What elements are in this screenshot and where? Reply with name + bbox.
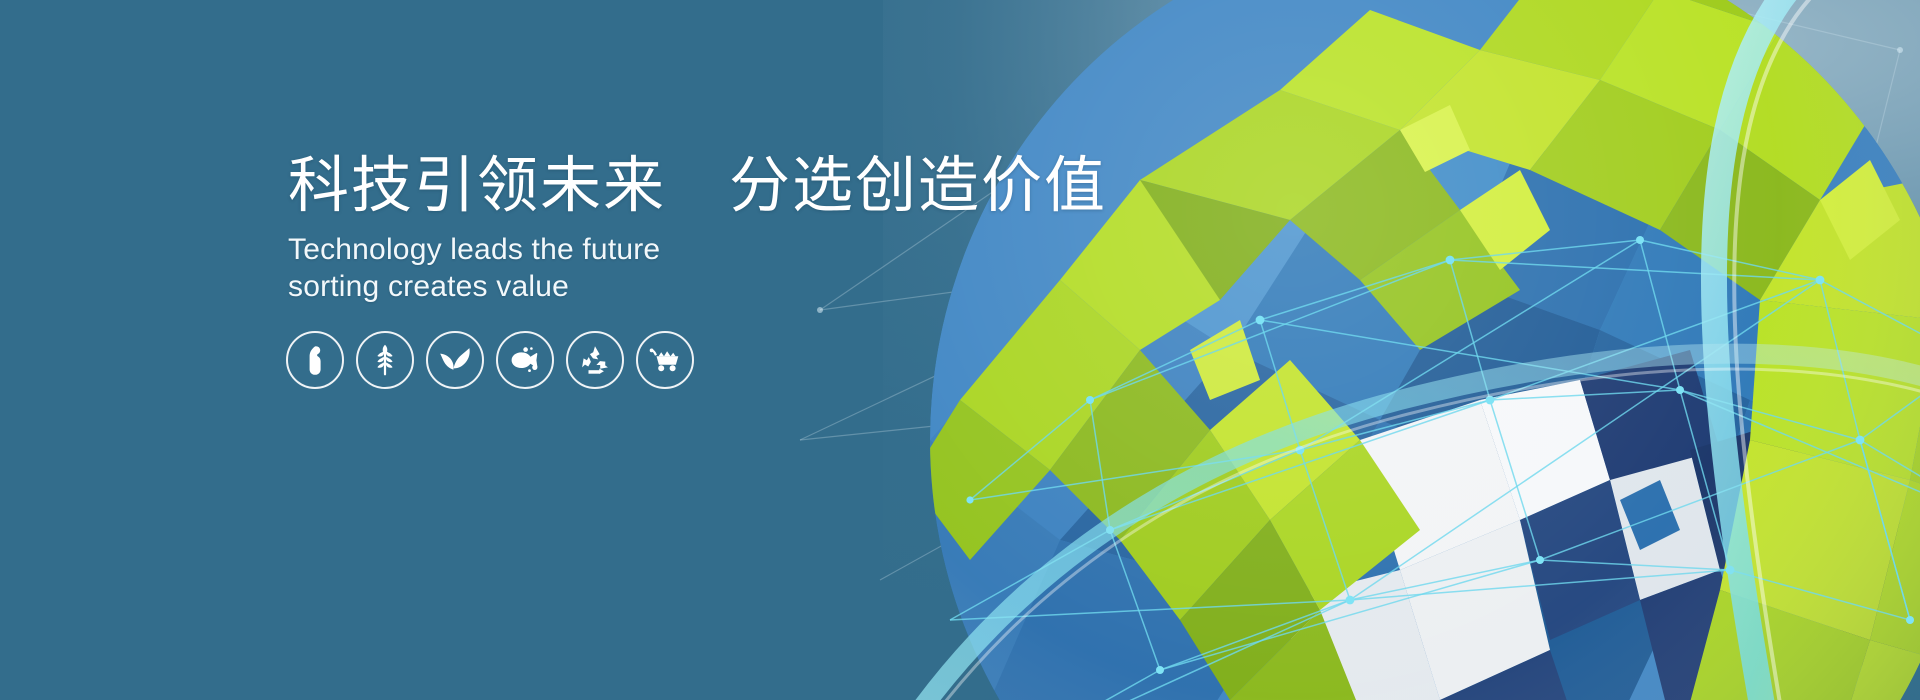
banner-background-blend	[730, 0, 1306, 700]
industry-icon-badge-rice[interactable]	[286, 331, 344, 389]
hero-subheadline-line1: Technology leads the future	[288, 232, 1008, 269]
industry-icon-badge-wheat[interactable]	[356, 331, 414, 389]
industry-icon-badge-tea-leaf[interactable]	[426, 331, 484, 389]
industry-icon-badge-ore-cart[interactable]	[636, 331, 694, 389]
industry-icon-badge-fish[interactable]	[496, 331, 554, 389]
hero-headline-chinese: 科技引领未来 分选创造价值	[288, 152, 1008, 220]
fish-icon	[509, 347, 541, 373]
wheat-ear-icon	[370, 344, 400, 376]
hero-subheadline-line2: sorting creates value	[288, 269, 1008, 306]
industry-icon-row	[286, 331, 694, 389]
hero-subheadline-english: Technology leads the future sorting crea…	[288, 232, 1008, 305]
industry-icon-badge-recycle[interactable]	[566, 331, 624, 389]
rice-grain-icon	[302, 345, 328, 375]
hero-banner: 科技引领未来 分选创造价值 Technology leads the futur…	[0, 0, 1920, 700]
ore-cart-icon	[649, 347, 681, 373]
hero-text-block: 科技引领未来 分选创造价值 Technology leads the futur…	[288, 152, 1008, 306]
tea-leaf-icon	[439, 347, 471, 373]
recycle-icon	[580, 345, 610, 375]
